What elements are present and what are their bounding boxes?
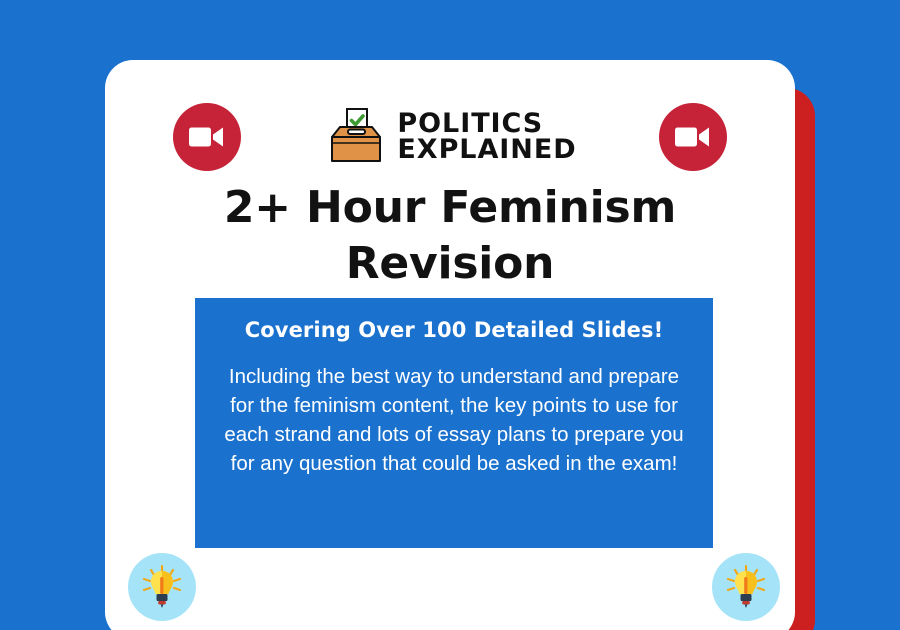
brand-line-2: EXPLAINED: [397, 137, 576, 163]
video-camera-badge-right: [659, 103, 727, 171]
promo-card: POLITICS EXPLAINED 2+ Hour Feminism Revi…: [105, 60, 795, 630]
title-line-1: 2+ Hour Feminism Revision: [127, 180, 773, 293]
lightbulb-badge-left: [128, 553, 196, 621]
brand-wordmark: POLITICS EXPLAINED: [397, 111, 576, 164]
lightbulb-badge-right: [712, 553, 780, 621]
brand-lockup: POLITICS EXPLAINED: [323, 106, 576, 168]
panel-body: Including the best way to understand and…: [223, 362, 685, 478]
promo-canvas: POLITICS EXPLAINED 2+ Hour Feminism Revi…: [0, 0, 900, 630]
video-camera-icon: [189, 125, 225, 149]
ballot-box-icon: [323, 106, 385, 168]
panel-heading: Covering Over 100 Detailed Slides!: [223, 318, 685, 342]
header-row: POLITICS EXPLAINED: [105, 96, 795, 178]
video-camera-icon: [675, 125, 711, 149]
details-panel: Covering Over 100 Detailed Slides! Inclu…: [195, 298, 713, 548]
video-camera-badge-left: [173, 103, 241, 171]
lightbulb-icon: [140, 564, 184, 610]
lightbulb-icon: [724, 564, 768, 610]
